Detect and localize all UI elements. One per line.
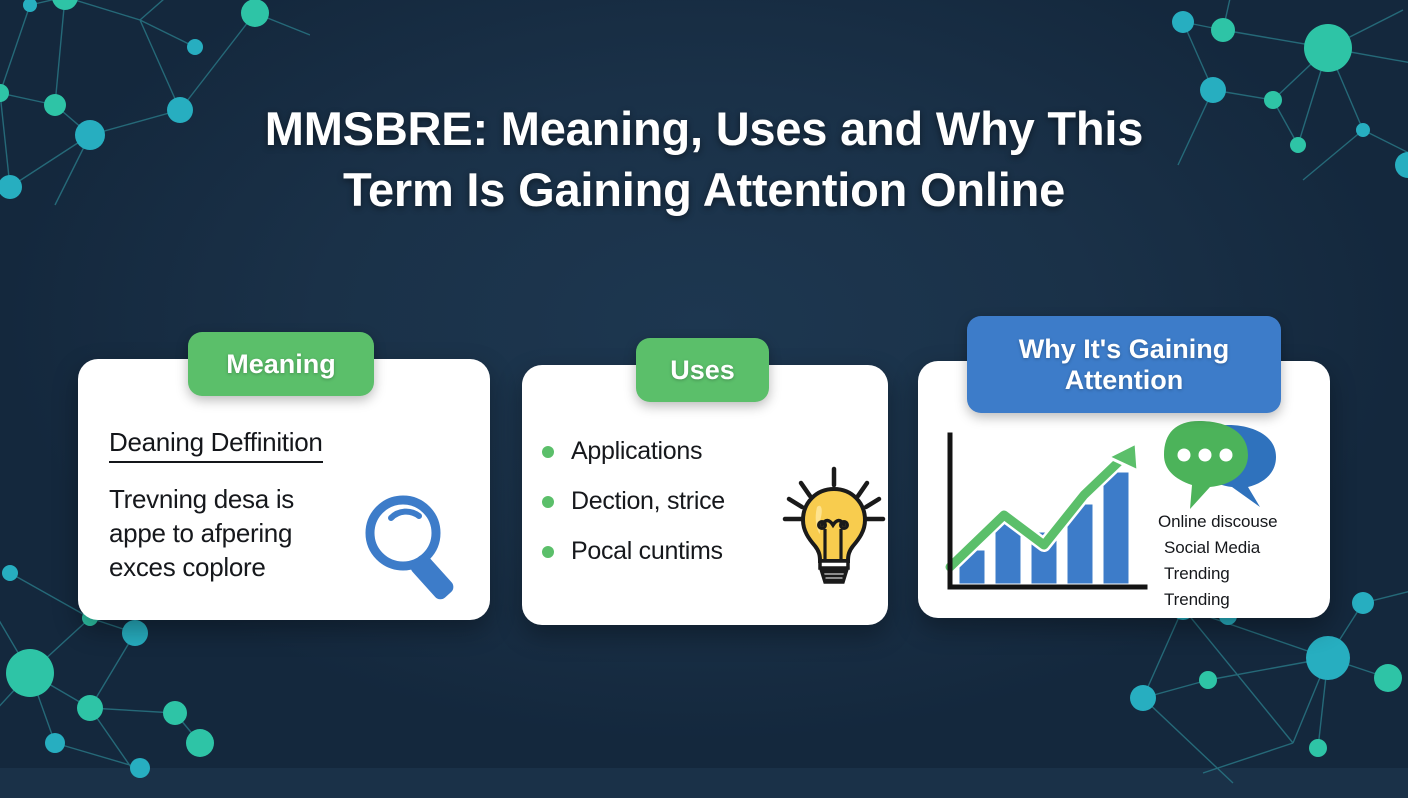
- magnifying-glass-icon: [355, 485, 477, 603]
- list-item: Applications: [542, 437, 725, 466]
- page-title: MMSBRE: Meaning, Uses and Why This Term …: [0, 98, 1408, 220]
- list-item-label: Pocal cuntims: [571, 537, 723, 566]
- attention-line-4: Trending: [1158, 587, 1328, 613]
- badge-meaning[interactable]: Meaning: [188, 332, 374, 396]
- attention-line-2: Social Media: [1158, 535, 1328, 561]
- list-item: Dection, strice: [542, 487, 725, 516]
- list-item: Pocal cuntims: [542, 537, 725, 566]
- why-gaining-attention-lines: Online discouse Social Media Trending Tr…: [1158, 509, 1328, 613]
- title-line-2: Term Is Gaining Attention Online: [200, 159, 1208, 220]
- card-meaning-heading: Deaning Deffinition: [109, 427, 323, 463]
- attention-line-1: Online discouse: [1158, 509, 1328, 535]
- bullet-dot-icon: [542, 496, 554, 508]
- badge-why-gaining-attention[interactable]: Why It's Gaining Attention: [967, 316, 1281, 413]
- growth-bar-chart-icon: [940, 427, 1150, 602]
- badge3-line-2: Attention: [1065, 365, 1183, 395]
- list-item-label: Applications: [571, 437, 702, 466]
- attention-line-3: Trending: [1158, 561, 1328, 587]
- title-line-1: MMSBRE: Meaning, Uses and Why This: [265, 102, 1143, 155]
- badge-uses[interactable]: Uses: [636, 338, 769, 402]
- bullet-dot-icon: [542, 446, 554, 458]
- bullet-dot-icon: [542, 546, 554, 558]
- card-meaning[interactable]: Deaning Deffinition Trevning desa is app…: [78, 359, 490, 620]
- card-uses[interactable]: Applications Dection, strice Pocal cunti…: [522, 365, 888, 625]
- list-item-label: Dection, strice: [571, 487, 725, 516]
- infographic-canvas: MMSBRE: Meaning, Uses and Why This Term …: [0, 0, 1408, 768]
- lightbulb-icon: [771, 463, 897, 589]
- uses-bullet-list: Applications Dection, strice Pocal cunti…: [542, 437, 725, 587]
- card-meaning-body: Trevning desa is appe to afpering exces …: [109, 483, 354, 584]
- badge3-line-1: Why It's Gaining: [1019, 334, 1229, 364]
- speech-bubbles-icon: [1156, 419, 1296, 517]
